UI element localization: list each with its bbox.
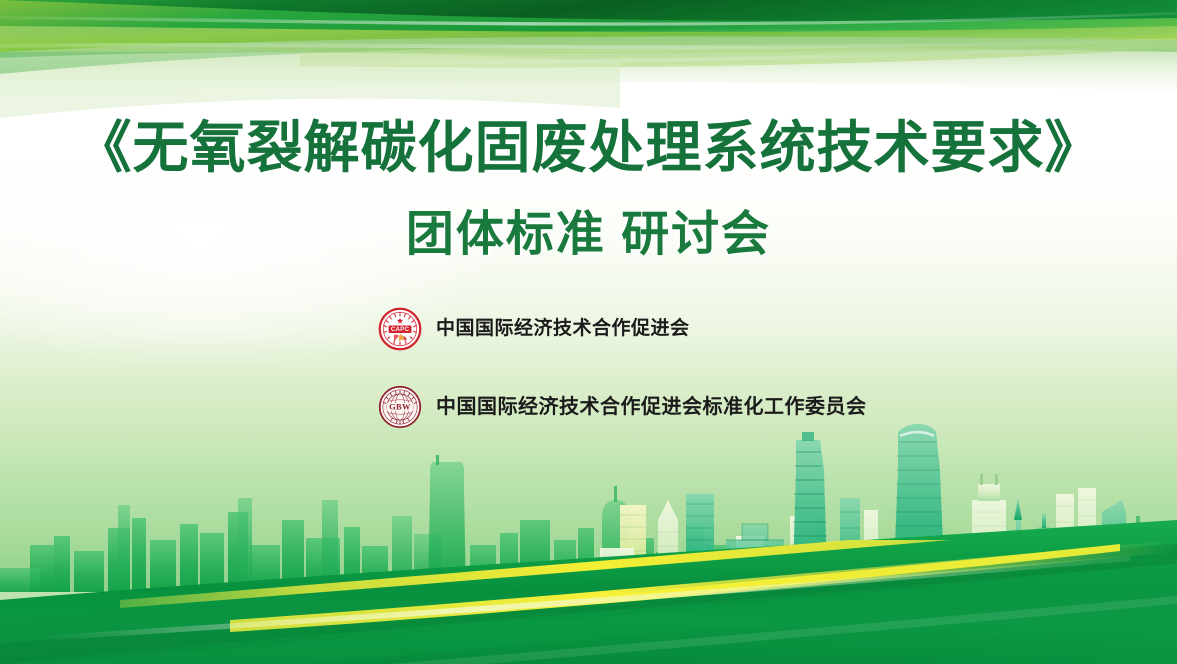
organization-row-gbw: GBW (378, 384, 1138, 430)
organization-label: 中国国际经济技术合作促进会标准化工作委员会 (436, 395, 867, 419)
capc-seal-icon: CAPC (378, 307, 422, 351)
gbw-seal-icon: GBW (378, 385, 422, 429)
organization-list: CAPC 中国国际经济技术合作促进会 (378, 306, 1138, 430)
page-title: 《无氧裂解碳化固废处理系统技术要求》 (0, 112, 1177, 184)
svg-text:GBW: GBW (389, 403, 411, 412)
title-slide: 《无氧裂解碳化固废处理系统技术要求》 团体标准 研讨会 (0, 0, 1177, 664)
organization-row-capc: CAPC 中国国际经济技术合作促进会 (378, 306, 1138, 352)
page-subtitle: 团体标准 研讨会 (0, 203, 1177, 267)
slide-content: 《无氧裂解碳化固废处理系统技术要求》 团体标准 研讨会 (0, 0, 1177, 664)
organization-label: 中国国际经济技术合作促进会 (436, 317, 690, 341)
svg-text:CAPC: CAPC (391, 326, 410, 333)
